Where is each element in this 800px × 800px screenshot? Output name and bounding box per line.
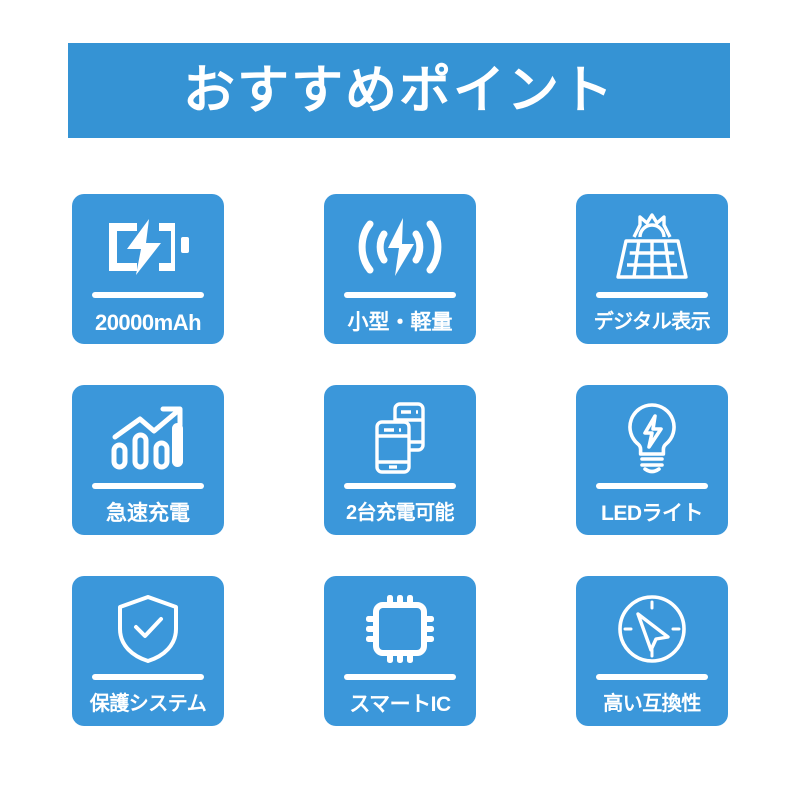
feature-tile-digital-display[interactable]: デジタル表示 (576, 194, 728, 344)
page-title: おすすめポイント (183, 65, 615, 117)
tile-divider (92, 674, 204, 680)
feature-tile-compatibility[interactable]: 高い互換性 (576, 576, 728, 726)
feature-tile-dual-charge[interactable]: 2台充電可能 (324, 385, 476, 535)
tile-divider (92, 292, 204, 298)
feature-label: 小型・軽量 (348, 312, 453, 333)
solar-panel-icon (614, 206, 690, 288)
tile-divider (344, 292, 456, 298)
compass-icon (616, 588, 688, 670)
feature-tile-compact-light[interactable]: 小型・軽量 (324, 194, 476, 344)
feature-label: LEDライト (601, 503, 703, 524)
tile-divider (596, 483, 708, 489)
feature-grid: 20000mAh 小型・軽量 (72, 194, 728, 726)
wireless-charge-icon (358, 206, 442, 288)
feature-label: 20000mAh (95, 312, 201, 334)
shield-check-icon (116, 588, 180, 670)
battery-charging-icon (105, 206, 191, 288)
feature-tile-protection[interactable]: 保護システム (72, 576, 224, 726)
feature-label: 高い互換性 (603, 694, 701, 714)
tile-divider (344, 674, 456, 680)
feature-label: 急速充電 (106, 503, 190, 524)
feature-tile-capacity[interactable]: 20000mAh (72, 194, 224, 344)
growth-chart-icon (109, 397, 187, 479)
lightbulb-bolt-icon (621, 397, 683, 479)
tile-divider (596, 674, 708, 680)
feature-label: 保護システム (90, 694, 206, 714)
feature-label: 2台充電可能 (346, 503, 454, 523)
header-banner: おすすめポイント (68, 43, 730, 138)
feature-label: スマートIC (349, 694, 450, 715)
feature-tile-fast-charge[interactable]: 急速充電 (72, 385, 224, 535)
tile-divider (92, 483, 204, 489)
cpu-chip-icon (365, 588, 435, 670)
promo-feature-page: おすすめポイント 20000mAh (0, 0, 800, 800)
feature-tile-smart-ic[interactable]: スマートIC (324, 576, 476, 726)
feature-tile-led-light[interactable]: LEDライト (576, 385, 728, 535)
feature-label: デジタル表示 (594, 312, 711, 332)
two-phones-icon (365, 397, 435, 479)
tile-divider (596, 292, 708, 298)
tile-divider (344, 483, 456, 489)
